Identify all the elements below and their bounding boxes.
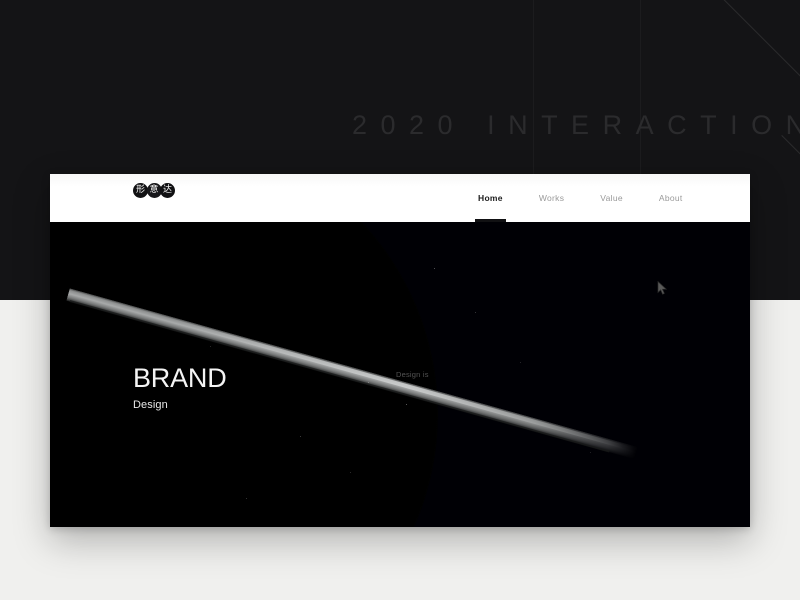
hero-tagline: Design is (396, 370, 429, 379)
star (520, 362, 521, 363)
star (246, 498, 247, 499)
nav-item-home[interactable]: Home (475, 174, 506, 222)
site-navbar: 形 意 达 Home Works Value About (50, 174, 750, 222)
hero-subtitle: Design (133, 398, 227, 412)
hero-copy: BRAND Design (133, 363, 227, 412)
logo-glyph-3: 达 (160, 183, 175, 198)
nav-item-home-label: Home (478, 193, 503, 203)
hero-title: BRAND (133, 363, 227, 393)
star (210, 346, 211, 347)
browser-window-mock: 形 意 达 Home Works Value About (50, 174, 750, 527)
screenshot-canvas: 2020 INTERACTION 形 意 达 Home Works Value (0, 0, 800, 600)
star (350, 472, 351, 473)
star (368, 382, 369, 383)
nav-item-about-label: About (659, 193, 683, 203)
xingyida-logo[interactable]: 形 意 达 (133, 183, 174, 198)
star (434, 268, 435, 269)
star (300, 436, 301, 437)
backdrop-headline: 2020 INTERACTION (352, 109, 800, 141)
saturn-ring-inner (169, 318, 623, 448)
nav-item-works-label: Works (539, 193, 564, 203)
star (475, 312, 476, 313)
star (590, 452, 591, 453)
logo-glyph-1: 形 (133, 183, 148, 198)
nav-item-about[interactable]: About (656, 174, 686, 222)
nav-item-value-label: Value (600, 193, 623, 203)
navbar-menu: Home Works Value About (475, 174, 686, 222)
nav-item-works[interactable]: Works (536, 174, 567, 222)
star (406, 404, 407, 405)
hero-section: Design is BRAND Design (50, 222, 750, 527)
nav-item-value[interactable]: Value (597, 174, 626, 222)
